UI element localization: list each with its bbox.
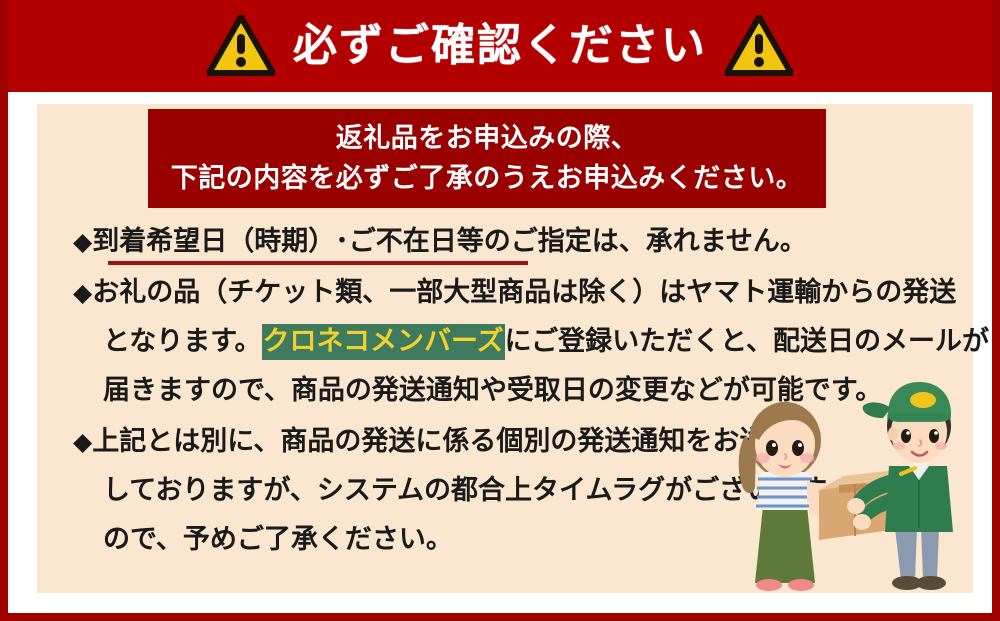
warning-triangle-icon (725, 15, 793, 77)
notice-text: お礼の品（チケット類、一部大型商品は除く）はヤマト運輸からの発送 (92, 277, 956, 308)
sub-banner-line-1: 返礼品をお申込みの際、 (336, 121, 639, 156)
notice-line: 届きますので、商品の発送通知や受取日の変更などが可能です。 (73, 366, 953, 415)
notice-text: しておりますが、システムの都合上タイムラグがございます (103, 475, 827, 506)
notice-text: にご登録いただくと、配送日のメールが (505, 326, 989, 357)
kuroneko-members-highlight[interactable]: クロネコメンバーズ (262, 324, 505, 360)
notice-item: ◆お礼の品（チケット類、一部大型商品は除く）はヤマト運輸からの発送 となります。… (73, 268, 953, 415)
bullet-diamond-icon: ◆ (73, 227, 92, 256)
notice-text: 到着希望日（時期）･ご不在日等のご指定は、承れません。 (92, 226, 807, 257)
bullet-diamond-icon: ◆ (73, 278, 92, 307)
page-title: 必ずご確認ください (293, 24, 707, 68)
sub-banner-line-2: 下記の内容を必ずご了承のうえお申込みください。 (171, 161, 804, 196)
notice-line: ◆上記とは別に、商品の発送に係る個別の発送通知をお送り (73, 417, 953, 466)
notice-text: 上記とは別に、商品の発送に係る個別の発送通知をお送り (92, 426, 793, 457)
notice-line: ◆到着希望日（時期）･ご不在日等のご指定は、承れません。 (73, 217, 953, 266)
notice-item: ◆上記とは別に、商品の発送に係る個別の発送通知をお送り しておりますが、システム… (73, 417, 953, 564)
notice-text: となります。 (103, 326, 262, 357)
bullet-diamond-icon: ◆ (73, 427, 92, 456)
notice-line: ◆お礼の品（チケット類、一部大型商品は除く）はヤマト運輸からの発送 (73, 268, 953, 317)
notice-text: ので、予めご了承ください。 (103, 524, 453, 555)
sub-banner: 返礼品をお申込みの際、 下記の内容を必ずご了承のうえお申込みください。 (148, 109, 826, 208)
warning-triangle-icon (207, 15, 275, 77)
content-panel: 返礼品をお申込みの際、 下記の内容を必ずご了承のうえお申込みください。 ◆到着希… (37, 104, 973, 593)
notice-item: ◆到着希望日（時期）･ご不在日等のご指定は、承れません。 (73, 217, 953, 266)
notice-poster: 必ずご確認ください 返礼品をお申込みの際、 下記の内容を必ずご了承のうえお申込み… (0, 0, 1000, 621)
header-banner: 必ずご確認ください (0, 0, 1000, 92)
notice-list: ◆到着希望日（時期）･ご不在日等のご指定は、承れません。 ◆お礼の品（チケット類… (73, 217, 953, 566)
notice-text: 届きますので、商品の発送通知や受取日の変更などが可能です。 (103, 375, 882, 406)
emphasis-underline (108, 261, 528, 265)
notice-line: ので、予めご了承ください。 (73, 515, 953, 564)
notice-line: しておりますが、システムの都合上タイムラグがございます (73, 466, 953, 515)
notice-line: となります。クロネコメンバーズにご登録いただくと、配送日のメールが (73, 317, 953, 366)
